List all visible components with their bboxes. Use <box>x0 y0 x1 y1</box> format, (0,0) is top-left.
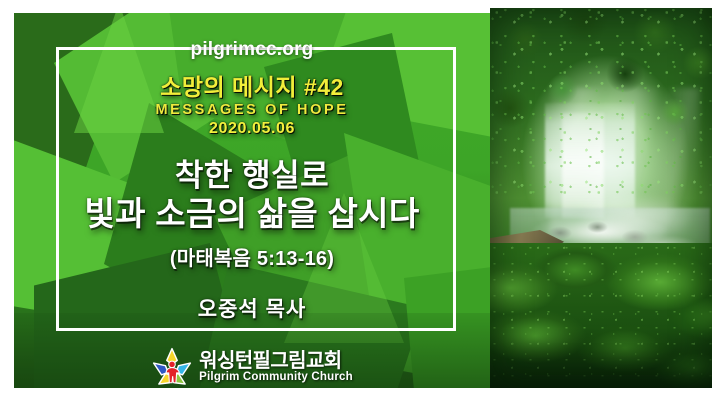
photo-vignette <box>490 8 712 388</box>
green-background-panel: pilgrimcc.org 소망의 메시지 #42 MESSAGES OF HO… <box>14 13 490 388</box>
site-url-text: pilgrimcc.org <box>14 39 490 61</box>
church-logo: 워싱턴필그림교회 Pilgrim Community Church <box>14 346 490 388</box>
sermon-title-line-1: 착한 행실로 <box>14 158 490 195</box>
church-logo-text: 워싱턴필그림교회 Pilgrim Community Church <box>199 351 353 384</box>
sermon-title-line-2: 빛과 소금의 삶을 삽시다 <box>14 195 490 234</box>
church-name-english: Pilgrim Community Church <box>199 372 353 384</box>
church-name-korean: 워싱턴필그림교회 <box>199 351 341 371</box>
scripture-reference: (마태복음 5:13-16) <box>14 242 490 271</box>
sermon-date: 2020.05.06 <box>14 120 490 138</box>
series-title-korean: 소망의 메시지 #42 <box>14 75 490 101</box>
star-people-logo-icon <box>151 346 193 388</box>
speaker-name: 오중석 목사 <box>14 293 490 323</box>
forest-waterfall-photo <box>490 8 712 388</box>
series-heading-block: 소망의 메시지 #42 MESSAGES OF HOPE 2020.05.06 <box>14 75 490 138</box>
sermon-title-block: 착한 행실로 빛과 소금의 삶을 삽시다 (마태복음 5:13-16) <box>14 158 490 271</box>
series-title-english: MESSAGES OF HOPE <box>14 102 490 118</box>
sermon-title-slide: pilgrimcc.org 소망의 메시지 #42 MESSAGES OF HO… <box>0 0 720 405</box>
